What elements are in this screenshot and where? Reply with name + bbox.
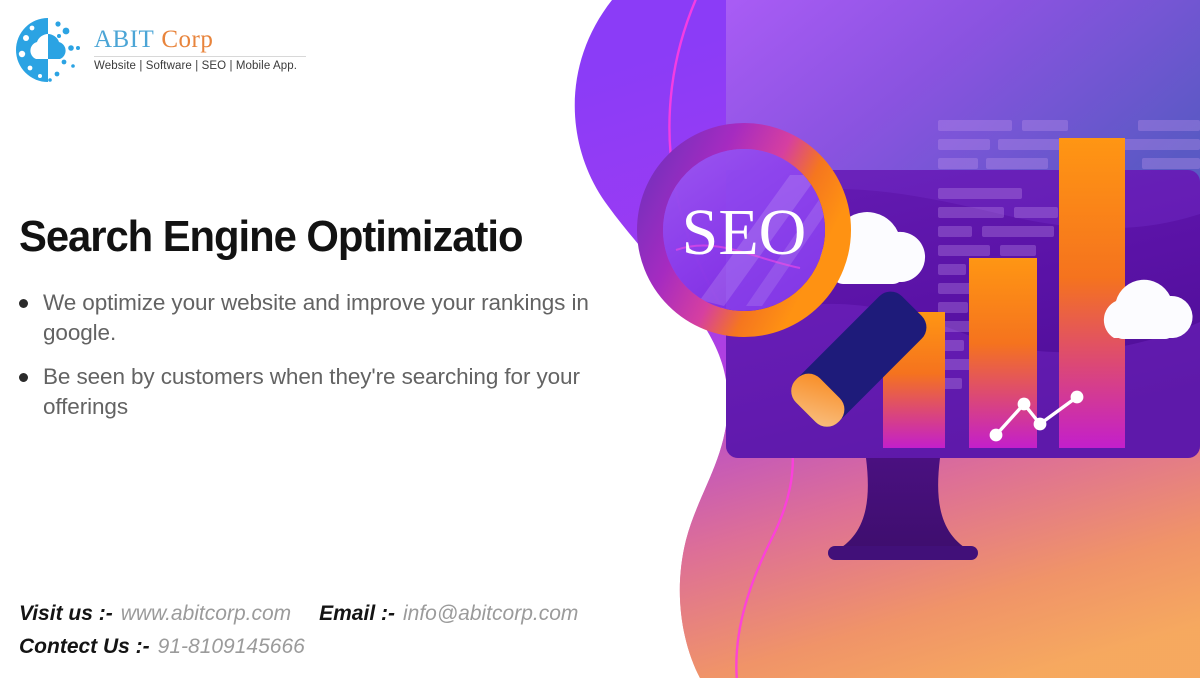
- phone-number[interactable]: 91-8109145666: [158, 635, 305, 659]
- list-item: Be seen by customers when they're search…: [19, 362, 619, 422]
- website-url[interactable]: www.abitcorp.com: [121, 602, 291, 626]
- list-item-text: We optimize your website and improve you…: [43, 288, 619, 348]
- logo-tagline: Website | Software | SEO | Mobile App.: [94, 60, 306, 72]
- logo-name-secondary: Corp: [161, 26, 213, 53]
- logo-wordmark: ABITCorp: [94, 27, 306, 52]
- contact-footer: Visit us :- www.abitcorp.com Email :- in…: [19, 602, 578, 668]
- visit-label: Visit us :-: [19, 602, 113, 626]
- bullet-dot-icon: [19, 299, 28, 308]
- bullet-dot-icon: [19, 373, 28, 382]
- footer-row-contact: Contect Us :- 91-8109145666: [19, 635, 578, 659]
- poster-canvas: SEO A: [0, 0, 1200, 678]
- magnifier-label: SEO: [682, 196, 807, 269]
- list-item-text: Be seen by customers when they're search…: [43, 362, 619, 422]
- page-title: Search Engine Optimizatio: [19, 215, 522, 259]
- logo-divider: [94, 56, 306, 57]
- logo-name-primary: ABIT: [94, 26, 154, 53]
- email-address[interactable]: info@abitcorp.com: [403, 602, 578, 626]
- list-item: We optimize your website and improve you…: [19, 288, 619, 348]
- email-label: Email :-: [319, 602, 395, 626]
- feature-list: We optimize your website and improve you…: [19, 288, 619, 436]
- contact-label: Contect Us :-: [19, 635, 150, 659]
- cloud-hemisphere-icon: [14, 14, 82, 86]
- bar-2: [969, 258, 1037, 448]
- footer-row-web-email: Visit us :- www.abitcorp.com Email :- in…: [19, 602, 578, 626]
- brand-logo[interactable]: ABITCorp Website | Software | SEO | Mobi…: [14, 14, 306, 86]
